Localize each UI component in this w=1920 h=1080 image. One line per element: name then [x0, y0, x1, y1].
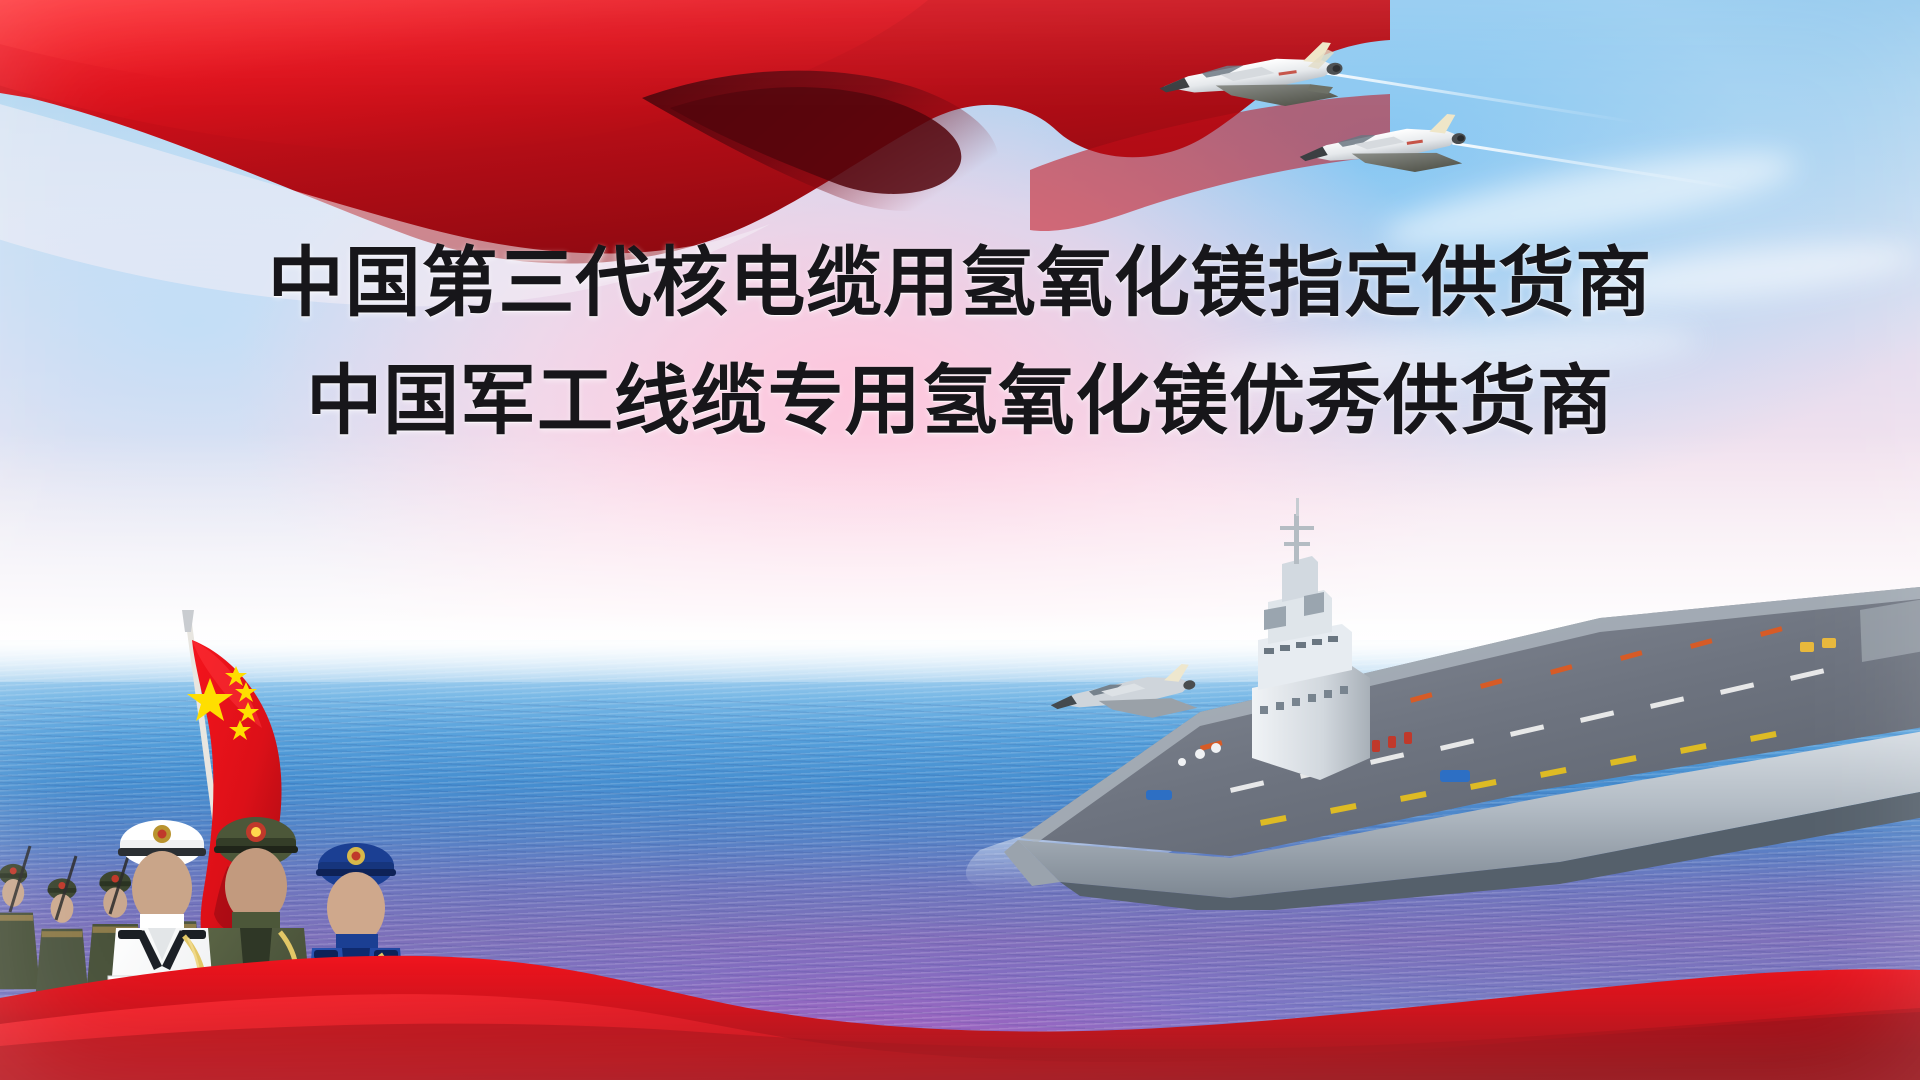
headline-line-1: 中国第三代核电缆用氢氧化镁指定供货商	[0, 236, 1920, 332]
red-ribbon-band	[0, 906, 1920, 1080]
banner-stage: 中国第三代核电缆用氢氧化镁指定供货商 中国军工线缆专用氢氧化镁优秀供货商	[0, 0, 1920, 1080]
headline-block: 中国第三代核电缆用氢氧化镁指定供货商 中国军工线缆专用氢氧化镁优秀供货商	[0, 236, 1920, 450]
carrier-island	[1252, 498, 1370, 780]
deck-fighter-jet	[1048, 662, 1200, 735]
aircraft-carrier	[900, 490, 1920, 910]
headline-line-2: 中国军工线缆专用氢氧化镁优秀供货商	[0, 354, 1920, 450]
